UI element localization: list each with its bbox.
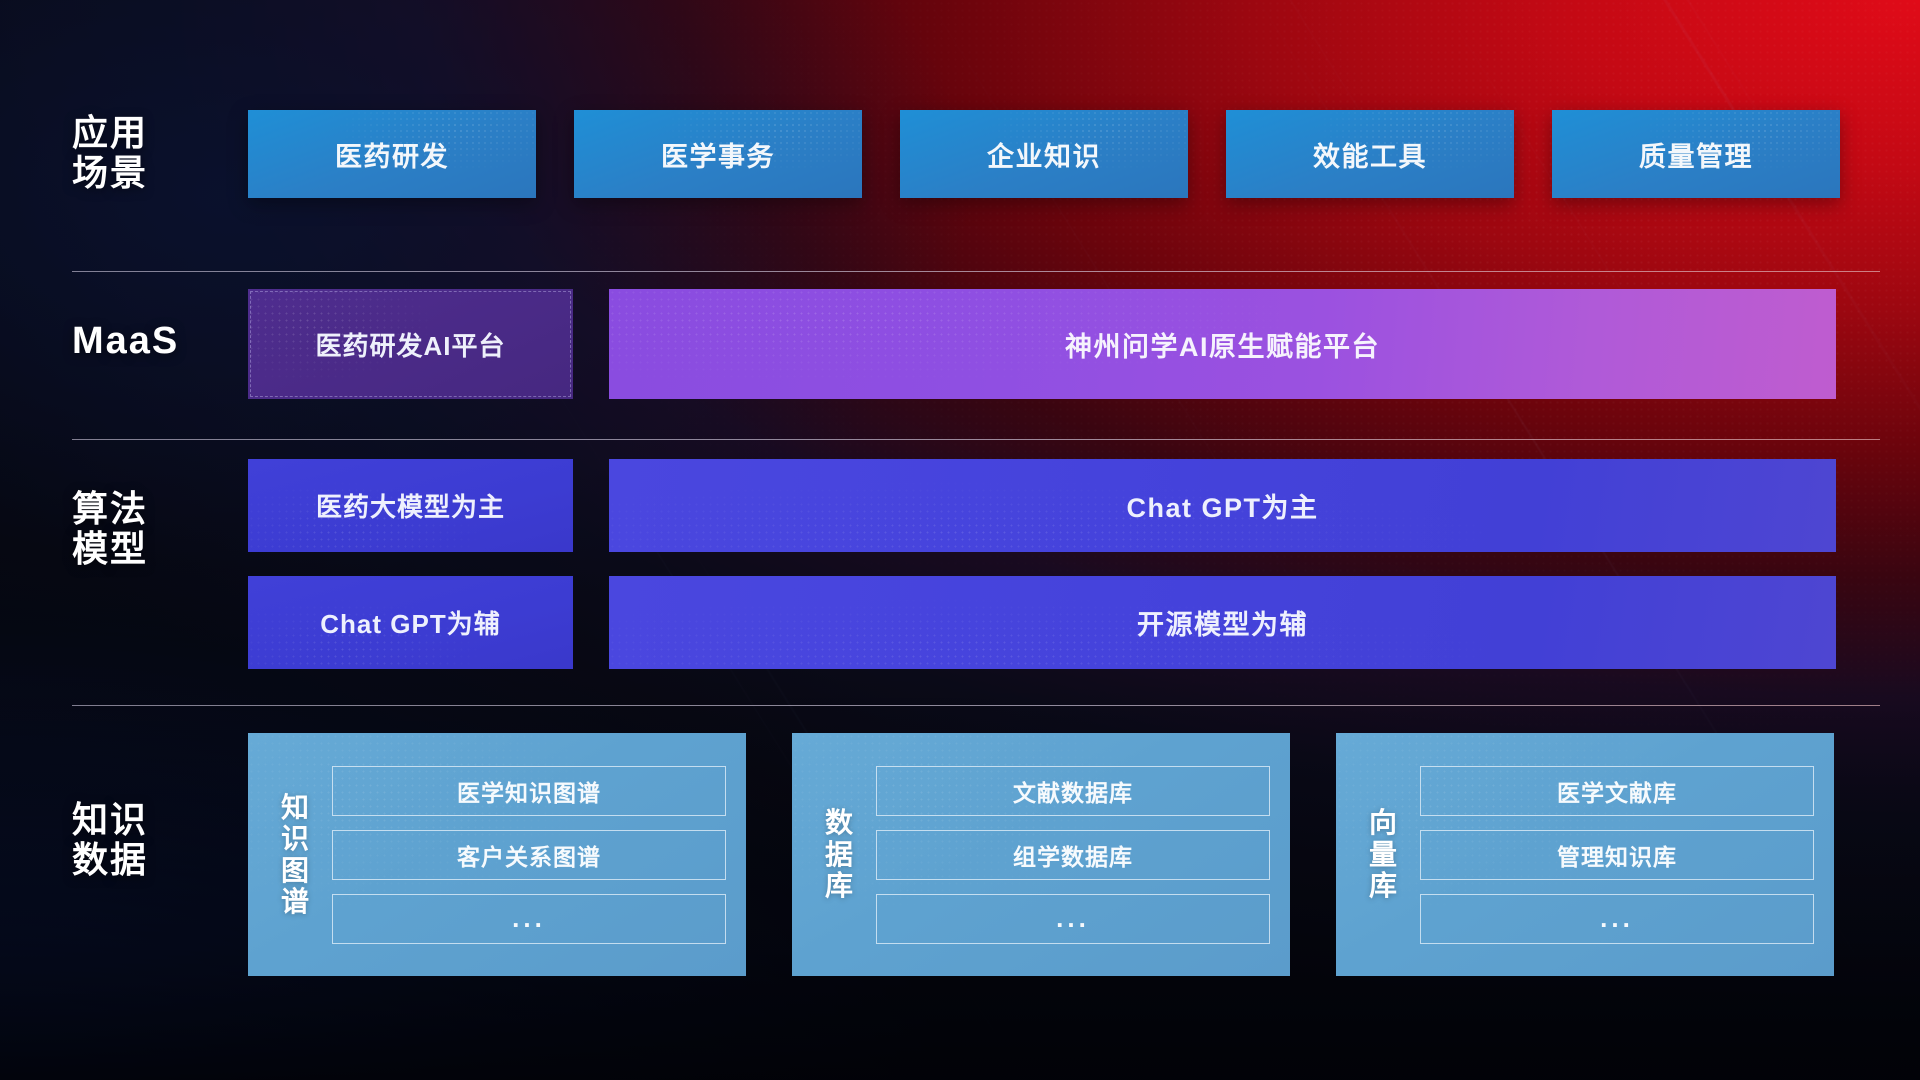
row-label-line: 知识 <box>72 800 232 840</box>
knowledge-panel-knowledge-graph: 知 识 图 谱 医学知识图谱 客户关系图谱 ... <box>248 733 746 976</box>
algo-box-chatgpt-primary[interactable]: Chat GPT为主 <box>609 459 1836 552</box>
vlabel-char: 知 <box>258 792 332 823</box>
knowledge-panel-label-knowledge-graph: 知 识 图 谱 <box>258 792 332 917</box>
row-label-line: 数据 <box>72 840 232 880</box>
app-box-medical-affairs[interactable]: 医学事务 <box>574 110 862 198</box>
row-label-line: MaaS <box>72 320 232 363</box>
maas-box-group: 医药研发AI平台 神州问学AI原生赋能平台 <box>248 289 1836 399</box>
algorithm-model-row-primary: 医药大模型为主 Chat GPT为主 <box>248 459 1836 552</box>
app-box-efficiency-tools[interactable]: 效能工具 <box>1226 110 1514 198</box>
knowledge-panel-label-vector-store: 向 量 库 <box>1346 807 1420 901</box>
knowledge-item-more[interactable]: ... <box>876 894 1270 944</box>
algorithm-model-row-secondary: Chat GPT为辅 开源模型为辅 <box>248 576 1836 669</box>
algo-box-opensource-secondary[interactable]: 开源模型为辅 <box>609 576 1836 669</box>
knowledge-item-list: 医学知识图谱 客户关系图谱 ... <box>332 766 732 944</box>
vlabel-char: 数 <box>802 807 876 838</box>
vlabel-char: 库 <box>1346 870 1420 901</box>
knowledge-item-medical-knowledge-graph[interactable]: 医学知识图谱 <box>332 766 726 816</box>
row-label-maas: MaaS <box>72 320 232 363</box>
row-label-line: 模型 <box>72 529 232 569</box>
knowledge-item-more[interactable]: ... <box>1420 894 1814 944</box>
vlabel-char: 库 <box>802 870 876 901</box>
app-box-quality-management[interactable]: 质量管理 <box>1552 110 1840 198</box>
row-label-line: 场景 <box>72 153 232 193</box>
knowledge-panel-group: 知 识 图 谱 医学知识图谱 客户关系图谱 ... 数 据 库 文献数据库 组学… <box>248 733 1834 976</box>
knowledge-panel-label-database: 数 据 库 <box>802 807 876 901</box>
algorithm-model-box-group: 医药大模型为主 Chat GPT为主 Chat GPT为辅 开源模型为辅 <box>248 459 1836 669</box>
vlabel-char: 识 <box>258 823 332 854</box>
vlabel-char: 图 <box>258 855 332 886</box>
app-box-drug-rd[interactable]: 医药研发 <box>248 110 536 198</box>
knowledge-item-management-knowledge-store[interactable]: 管理知识库 <box>1420 830 1814 880</box>
divider-after-application-row <box>72 271 1880 272</box>
row-label-line: 算法 <box>72 489 232 529</box>
knowledge-panel-vector-store: 向 量 库 医学文献库 管理知识库 ... <box>1336 733 1834 976</box>
algo-box-pharma-llm-primary[interactable]: 医药大模型为主 <box>248 459 573 552</box>
divider-after-algorithm-row <box>72 705 1880 706</box>
knowledge-item-customer-relation-graph[interactable]: 客户关系图谱 <box>332 830 726 880</box>
maas-box-shenzhou-wenxue-platform[interactable]: 神州问学AI原生赋能平台 <box>609 289 1836 399</box>
vlabel-char: 据 <box>802 839 876 870</box>
knowledge-item-more[interactable]: ... <box>332 894 726 944</box>
algo-box-chatgpt-secondary[interactable]: Chat GPT为辅 <box>248 576 573 669</box>
app-box-enterprise-knowledge[interactable]: 企业知识 <box>900 110 1188 198</box>
divider-after-maas-row <box>72 439 1880 440</box>
knowledge-item-medical-literature-store[interactable]: 医学文献库 <box>1420 766 1814 816</box>
row-label-knowledge-data: 知识 数据 <box>72 800 232 881</box>
knowledge-item-list: 医学文献库 管理知识库 ... <box>1420 766 1820 944</box>
row-label-algorithm-models: 算法 模型 <box>72 489 232 570</box>
vlabel-char: 谱 <box>258 886 332 917</box>
row-label-application-scenarios: 应用 场景 <box>72 113 232 194</box>
row-label-line: 应用 <box>72 113 232 153</box>
vlabel-char: 向 <box>1346 807 1420 838</box>
vlabel-char: 量 <box>1346 839 1420 870</box>
knowledge-item-omics-database[interactable]: 组学数据库 <box>876 830 1270 880</box>
application-scenario-box-group: 医药研发 医学事务 企业知识 效能工具 质量管理 <box>248 110 1840 198</box>
knowledge-item-list: 文献数据库 组学数据库 ... <box>876 766 1276 944</box>
knowledge-item-literature-database[interactable]: 文献数据库 <box>876 766 1270 816</box>
knowledge-panel-database: 数 据 库 文献数据库 组学数据库 ... <box>792 733 1290 976</box>
maas-box-drug-rd-ai-platform[interactable]: 医药研发AI平台 <box>248 289 573 399</box>
